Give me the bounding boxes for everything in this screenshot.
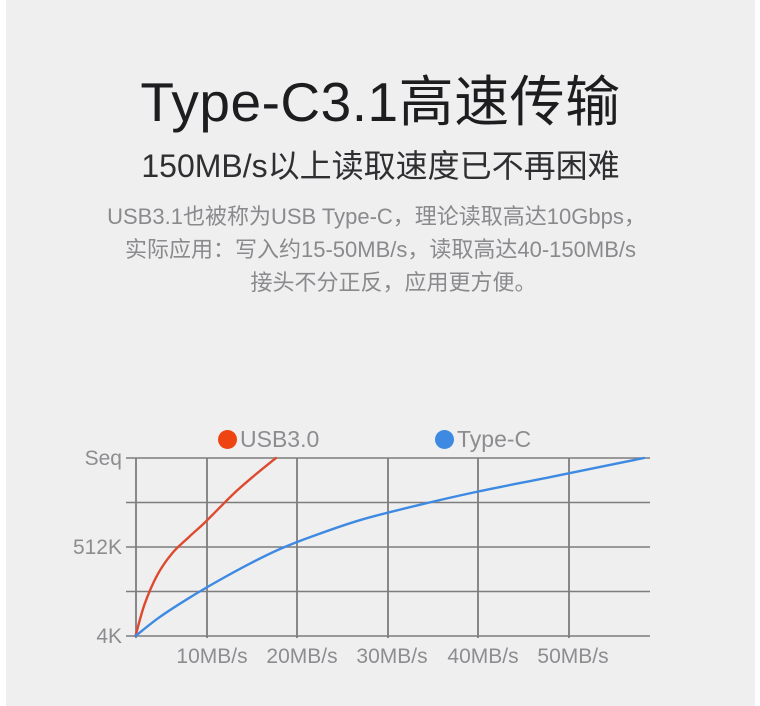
page-subtitle: 150MB/s以上读取速度已不再困难 bbox=[6, 146, 755, 186]
chart-gridlines bbox=[126, 458, 650, 638]
legend-item-typec: Type-C bbox=[435, 426, 531, 453]
legend-label-usb30: USB3.0 bbox=[240, 426, 319, 453]
speed-comparison-chart: USB3.0 Type-C Seq512K4K 10MB/s20MB/s30MB… bbox=[6, 404, 755, 694]
x-axis-tick-label: 40MB/s bbox=[443, 645, 523, 669]
x-axis-tick-label: 30MB/s bbox=[352, 645, 432, 669]
legend-dot-typec-icon bbox=[435, 430, 454, 449]
legend-item-usb30: USB3.0 bbox=[218, 426, 319, 453]
description-line-2: 实际应用：写入约15-50MB/s，读取高达40-150MB/s bbox=[6, 233, 755, 266]
description-line-1: USB3.1也被称为USB Type-C，理论读取高达10Gbps， bbox=[6, 200, 755, 233]
page-title: Type-C3.1高速传输 bbox=[6, 71, 755, 133]
y-axis-tick-label: 4K bbox=[26, 625, 122, 649]
description-paragraph: USB3.1也被称为USB Type-C，理论读取高达10Gbps， 实际应用：… bbox=[6, 200, 755, 299]
y-axis-tick-label: 512K bbox=[26, 536, 122, 560]
promo-page: Type-C3.1高速传输 150MB/s以上读取速度已不再困难 USB3.1也… bbox=[6, 0, 755, 706]
x-axis-tick-label: 50MB/s bbox=[533, 645, 613, 669]
y-axis-tick-label: Seq bbox=[26, 447, 122, 471]
legend-label-typec: Type-C bbox=[457, 426, 531, 453]
description-line-3: 接头不分正反，应用更方便。 bbox=[6, 266, 755, 299]
legend-dot-usb30-icon bbox=[218, 430, 237, 449]
x-axis-tick-label: 10MB/s bbox=[172, 645, 252, 669]
x-axis-tick-label: 20MB/s bbox=[262, 645, 342, 669]
